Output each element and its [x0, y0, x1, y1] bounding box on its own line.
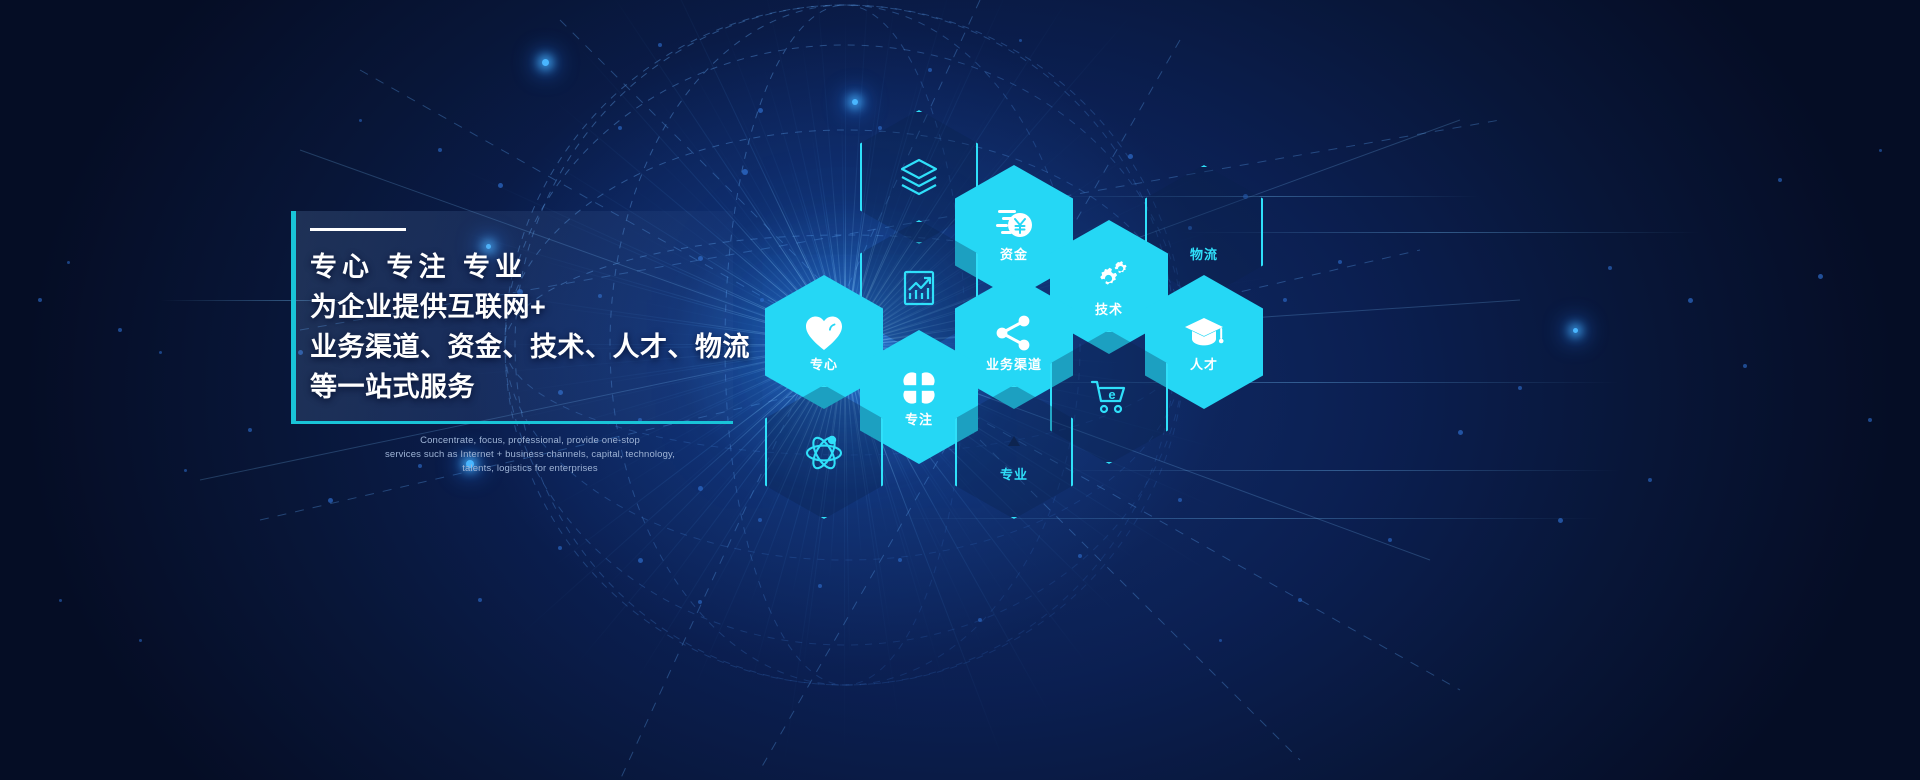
headline-line-3: 业务渠道、资金、技术、人才、物流 — [310, 327, 780, 367]
hex-content — [804, 432, 844, 472]
headline-line-2: 为企业提供互联网+ — [310, 287, 780, 327]
hex-label: 专注 — [905, 413, 933, 426]
subtitle-line-3: talents, logistics for enterprises — [300, 462, 760, 476]
banner-stage: 专心 专注 专业 为企业提供互联网+ 业务渠道、资金、技术、人才、物流 等一站式… — [0, 0, 1920, 780]
subtitle-line-1: Concentrate, focus, professional, provid… — [300, 434, 760, 448]
subtitle-line-2: services such as Internet + business cha… — [300, 448, 760, 462]
svg-text:e: e — [1108, 387, 1115, 402]
hex-content: 物流 — [1184, 203, 1224, 261]
money-yen-icon — [994, 203, 1034, 243]
hex-label: 物流 — [1190, 248, 1218, 261]
four-petal-icon — [899, 368, 939, 408]
hex-content — [899, 157, 939, 197]
hex-content: 专业 — [994, 423, 1034, 481]
diamond-icon — [994, 423, 1034, 463]
headline-rule — [310, 228, 406, 231]
hex-label: 资金 — [1000, 248, 1028, 261]
hex-label: 人才 — [1190, 358, 1218, 371]
hex-content: 专注 — [899, 368, 939, 426]
hex-content: 专心 — [804, 313, 844, 371]
hex-content: 业务渠道 — [986, 313, 1042, 371]
headline-line-4: 等一站式服务 — [310, 367, 780, 407]
chart-growth-icon — [899, 267, 939, 307]
hex-label: 技术 — [1095, 303, 1123, 316]
hex-content: 人才 — [1184, 313, 1224, 371]
hexagon-cluster: 资金物流技术专心业务渠道人才专注e专业 — [740, 110, 1300, 530]
truck-icon — [1184, 203, 1224, 243]
headline-copy: 专心 专注 专业 为企业提供互联网+ 业务渠道、资金、技术、人才、物流 等一站式… — [310, 228, 780, 407]
heart-icon — [804, 313, 844, 353]
graduation-cap-icon — [1184, 313, 1224, 353]
gears-icon — [1089, 258, 1129, 298]
atom-icon — [804, 432, 844, 472]
hex-content: 资金 — [994, 203, 1034, 261]
hex-content: 技术 — [1089, 258, 1129, 316]
hex-label: 业务渠道 — [986, 358, 1042, 371]
layers-icon — [899, 157, 939, 197]
headline-line-1: 专心 专注 专业 — [310, 247, 780, 287]
headline-underline — [291, 421, 733, 424]
hex-content — [899, 267, 939, 307]
hex-label: 专心 — [810, 358, 838, 371]
hex-content: e — [1089, 377, 1129, 417]
share-network-icon — [994, 313, 1034, 353]
subtitle-copy: Concentrate, focus, professional, provid… — [300, 434, 760, 476]
hex-label: 专业 — [1000, 468, 1028, 481]
shopping-cart-e-icon: e — [1089, 377, 1129, 417]
